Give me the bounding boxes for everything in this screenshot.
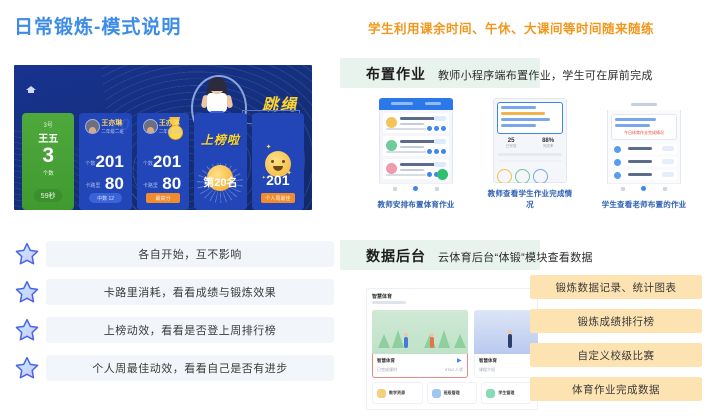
student-card-blue-1: 20 王亦琳二年级二班 个数 201 卡路里 80 中数 12 (79, 113, 131, 210)
calorie-label: 卡路里 (85, 182, 100, 189)
phone-mockup-row: 教师安排布置体育作业 25已完成 88%完成率 (370, 98, 700, 210)
list-item: 各自开始，互不影响 (14, 238, 334, 269)
section-subtitle-2: 云体育后台“体锻”模块查看数据 (438, 249, 593, 265)
course-illustration (474, 310, 538, 354)
task-card: 今日体育作业完成情况 (611, 114, 677, 140)
card-meta-left: 已完成课时 (377, 367, 397, 373)
phone-caption: 学生查看老师布置的作业 (602, 199, 687, 210)
feature-tag: 自定义校级比赛 (530, 343, 702, 367)
dashboard-title: 智慧体育 (372, 293, 392, 300)
feature-bullet-list: 各自开始，互不影响 卡路里消耗，看看成绩与锻炼效果 上榜动效，看看是否登上周排行… (14, 238, 334, 390)
card-meta-right: 9762 人学 (445, 367, 463, 373)
section-title-2: 数据后台 (366, 246, 426, 266)
summary-card (497, 102, 563, 134)
right-column: 学生利用课余时间、午休、大课间等时间随来随练 布置作业 教师小程序端布置作业，学… (352, 0, 710, 419)
personal-best-card: ✦ ✦ ✦ 201 个人周最佳 (252, 113, 304, 210)
dashboard-nav-item-student[interactable]: 学生管理 (481, 382, 532, 404)
count-label: 个数 (143, 160, 153, 167)
dashboard-subtitle-line (372, 301, 406, 304)
list-item-label: 卡路里消耗，看看成绩与锻炼效果 (46, 279, 334, 305)
student-count: 3 (22, 145, 74, 166)
student-class: 二年级二班 (159, 129, 182, 135)
list-item-label: 各自开始，互不影响 (46, 241, 334, 267)
card-tag: 最高分 (146, 193, 180, 203)
home-icon[interactable] (26, 83, 36, 92)
list-item (611, 144, 677, 154)
course-illustration (372, 310, 468, 354)
stat-row: 25已完成 88%完成率 (493, 138, 567, 149)
sparkle-icon: ✦ (266, 143, 272, 151)
feature-tag-list: 锻炼数据记录、统计图表 锻炼成绩排行榜 自定义校级比赛 体育作业完成数据 (530, 275, 702, 411)
phone-caption: 教师查看学生作业完成情况 (484, 188, 576, 210)
card-meta-left: 课程介绍 (479, 367, 495, 373)
phone-bottom-nav[interactable] (379, 183, 453, 194)
student-card-blue-2: 王亦琳二年级二班 个数 201 卡路里 80 最高分 (137, 113, 189, 210)
nav-label: 教学资源 (389, 390, 405, 396)
rank-text: 第20名 (194, 174, 246, 190)
list-item (383, 113, 449, 133)
list-item (383, 136, 449, 156)
feature-tag: 体育作业完成数据 (530, 377, 702, 401)
student-number: 3号 (22, 120, 74, 129)
nav-label: 班级管理 (444, 390, 460, 396)
phone-mockup-2: 25已完成 88%完成率 教师查看学生作业完成情况 (484, 98, 576, 210)
student-name: 王亦琳二年级二班 (159, 118, 182, 135)
count-label: 个数 (85, 160, 95, 167)
phone-caption: 教师安排布置体育作业 (378, 199, 455, 210)
avatar (85, 119, 100, 134)
calorie-label: 卡路里 (143, 182, 158, 189)
list-item: 卡路里消耗，看看成绩与锻炼效果 (14, 276, 334, 307)
student-card-green: 3号 王五 3 个数 59秒 (22, 113, 74, 210)
best-count: 201 (252, 172, 304, 188)
phone-screen: 25已完成 88%完成率 (493, 98, 567, 183)
page-title: 日常锻炼-模式说明 (14, 12, 181, 39)
list-item: 上榜动效，看看是否登上周排行榜 (14, 314, 334, 345)
section-subtitle-1: 教师小程序端布置作业，学生可在屏前完成 (438, 67, 653, 83)
feature-tag: 锻炼数据记录、统计图表 (530, 275, 702, 299)
slide-root: 日常锻炼-模式说明 跳绳 3号 王五 3 个数 (0, 0, 710, 419)
dashboard-card-2[interactable]: 智慧体育 课程介绍 (474, 310, 538, 378)
student-name: 王五 (22, 130, 74, 145)
dashboard-card-1[interactable]: 智慧体育 ▶ 已完成课时 9762 人学 (372, 310, 468, 378)
hero-screenshot: 跳绳 3号 王五 3 个数 59秒 20 王亦琳二年级二班 个数 201 (14, 65, 312, 210)
nav-label: 学生管理 (498, 390, 514, 396)
list-item (611, 157, 677, 167)
add-button[interactable] (437, 169, 448, 180)
section-headline: 学生利用课余时间、午休、大课间等时间随来随练 (368, 18, 704, 37)
class-icon (432, 389, 441, 398)
avatar-grid (493, 165, 567, 183)
star-icon (14, 317, 40, 343)
feature-tag: 锻炼成绩排行榜 (530, 309, 702, 333)
phone-mockup-1: 教师安排布置体育作业 (370, 98, 462, 210)
dashboard-nav-item-class[interactable]: 班级管理 (427, 382, 478, 404)
phone-bottom-nav[interactable] (607, 183, 681, 194)
folder-icon (377, 389, 386, 398)
rank-card: 上榜啦 第20名 (194, 113, 246, 210)
phone-header-bar (379, 98, 453, 110)
count-value: 201 (95, 153, 123, 170)
card-meta: 已完成课时 9762 人学 (377, 367, 463, 373)
list-item: 个人周最佳动效，看看自己是否有进步 (14, 352, 334, 383)
student-icon (486, 389, 495, 398)
student-class: 二年级二班 (101, 129, 124, 135)
left-column: 日常锻炼-模式说明 跳绳 3号 王五 3 个数 (0, 0, 352, 419)
star-icon (14, 241, 40, 267)
student-count-unit: 个数 (22, 169, 74, 177)
card-title: 智慧体育 (377, 358, 463, 364)
phone-screen (379, 98, 453, 194)
dashboard-nav-item-teaching[interactable]: 教学资源 (372, 382, 423, 404)
dashboard-nav: 教学资源 班级管理 学生管理 (372, 382, 532, 404)
student-time-pill: 59秒 (34, 189, 62, 202)
avatar (143, 119, 158, 134)
star-icon (14, 355, 40, 381)
calorie-value: 80 (105, 175, 124, 192)
calorie-value: 80 (162, 175, 181, 192)
count-value: 201 (153, 153, 181, 170)
list-item (611, 170, 677, 180)
phone-screen: 今日体育作业完成情况 (607, 98, 681, 194)
list-item-label: 上榜动效，看看是否登上周排行榜 (46, 317, 334, 343)
star-icon (14, 279, 40, 305)
dashboard-screenshot: 智慧体育 智慧体育 ▶ 已完成课时 9762 人学 (366, 288, 538, 410)
list-item-label: 个人周最佳动效，看看自己是否有进步 (46, 355, 334, 381)
play-icon[interactable]: ▶ (457, 357, 463, 363)
card-tag: 中数 12 (89, 193, 121, 203)
phone-mockup-3: 今日体育作业完成情况 学生查看老师布置的作业 (598, 98, 690, 210)
card-tag: 个人周最佳 (261, 193, 295, 203)
hero-card-row: 3号 王五 3 个数 59秒 20 王亦琳二年级二班 个数 201 卡路里 80… (22, 113, 304, 210)
section-title-1: 布置作业 (366, 64, 426, 84)
rank-title: 上榜啦 (194, 131, 246, 148)
student-name: 王亦琳二年级二班 (101, 118, 124, 135)
